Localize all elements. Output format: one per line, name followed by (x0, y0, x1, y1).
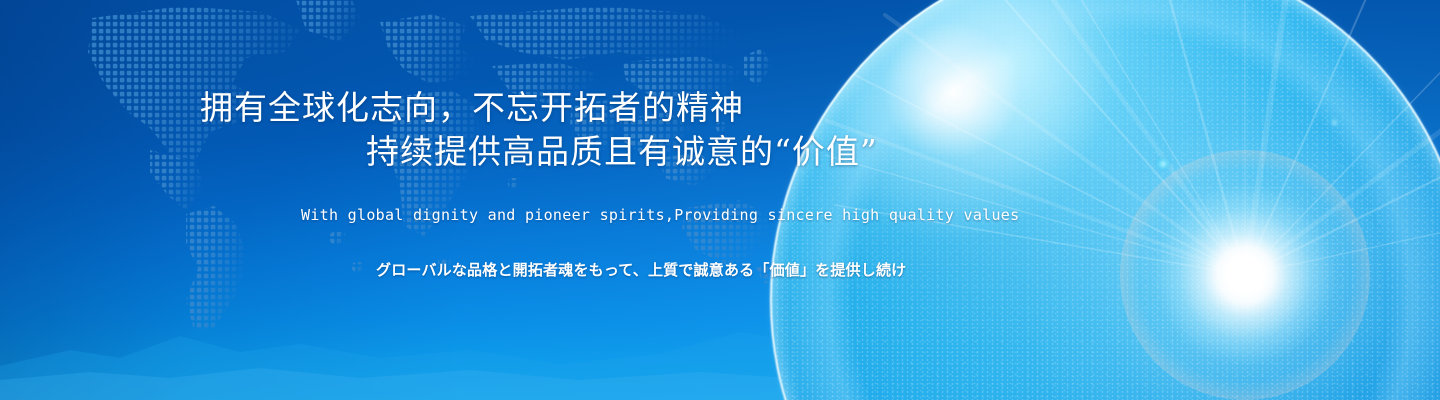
headline-line-2: 持续提供高品质且有诚意的“价值” (366, 134, 878, 170)
banner-copy: 拥有全球化志向，不忘开拓者的精神 持续提供高品质且有诚意的“价值” With g… (0, 0, 1000, 400)
flare-core (1155, 185, 1335, 365)
lens-flare-orb (1155, 156, 1171, 172)
subtitle-english: With global dignity and pioneer spirits,… (301, 206, 1019, 224)
headline-line-1: 拥有全球化志向，不忘开拓者的精神 (200, 90, 744, 126)
lens-flare-orb-small (1330, 118, 1339, 127)
subtitle-japanese: グローバルな品格と開拓者魂をもって、上質で誠意ある「価値」を提供し続け (376, 259, 906, 280)
hero-banner: 拥有全球化志向，不忘开拓者的精神 持续提供高品质且有诚意的“价值” With g… (0, 0, 1440, 400)
